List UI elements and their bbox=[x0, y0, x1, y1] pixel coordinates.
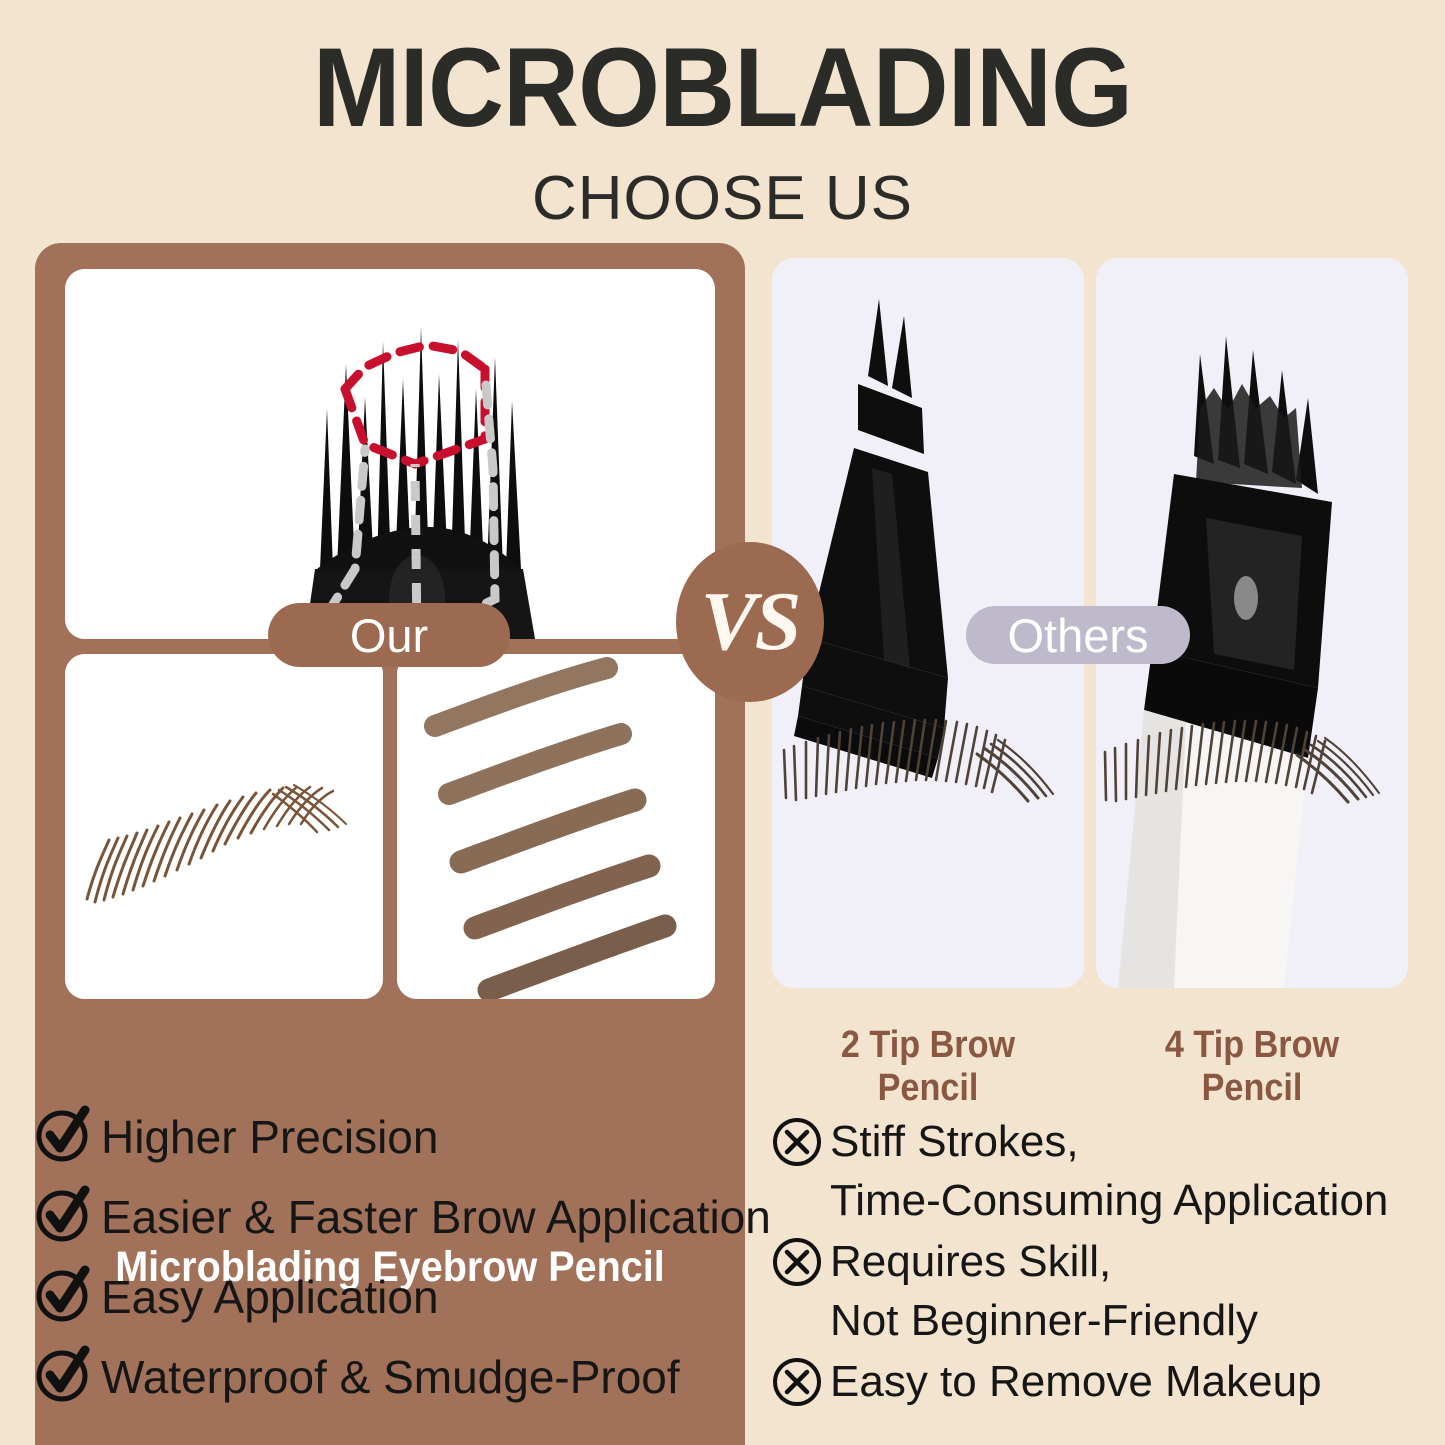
our-label-badge: Our bbox=[268, 603, 510, 667]
list-item: Waterproof & Smudge-Proof bbox=[35, 1347, 755, 1409]
check-circle-icon bbox=[35, 1265, 101, 1328]
others-product-1-name: 2 Tip Brow Pencil bbox=[788, 1024, 1069, 1110]
list-item: Stiff Strokes, Time-Consuming Applicatio… bbox=[772, 1113, 1432, 1229]
pen-tip-closeup-icon bbox=[65, 269, 715, 639]
list-item-label: Waterproof & Smudge-Proof bbox=[101, 1347, 680, 1407]
page-subtitle: CHOOSE US bbox=[0, 168, 1445, 230]
check-circle-icon bbox=[35, 1345, 101, 1408]
list-item-label-line1: Requires Skill, bbox=[830, 1233, 1111, 1290]
others-product-2-name: 4 Tip Brow Pencil bbox=[1112, 1024, 1393, 1110]
check-circle-icon bbox=[35, 1185, 101, 1248]
others-2-brow-strokes-icon bbox=[1096, 688, 1408, 988]
vs-text: VS bbox=[701, 580, 800, 664]
check-circle-icon bbox=[35, 1105, 101, 1168]
others-1-brow-strokes-icon bbox=[772, 688, 1084, 988]
list-item: Easy Application bbox=[35, 1267, 755, 1329]
x-circle-icon bbox=[772, 1237, 830, 1292]
list-item: Higher Precision bbox=[35, 1107, 755, 1169]
list-item: Easier & Faster Brow Application bbox=[35, 1187, 755, 1249]
our-brow-result-image bbox=[65, 654, 383, 999]
x-circle-icon bbox=[772, 1117, 830, 1172]
list-item-label-line2: Time-Consuming Application bbox=[830, 1172, 1388, 1229]
list-item-label: Higher Precision bbox=[101, 1107, 438, 1167]
others-drawback-list: Stiff Strokes, Time-Consuming Applicatio… bbox=[772, 1113, 1432, 1416]
brow-result-icon bbox=[65, 654, 383, 999]
our-pen-tip-image bbox=[65, 269, 715, 639]
our-color-swatches-image bbox=[397, 654, 715, 999]
list-item: Requires Skill, Not Beginner-Friendly bbox=[772, 1233, 1432, 1349]
page-title: MICROBLADING bbox=[43, 32, 1401, 144]
infographic-root: MICROBLADING CHOOSE US bbox=[0, 0, 1445, 1445]
list-item: Easy to Remove Makeup bbox=[772, 1353, 1432, 1412]
header: MICROBLADING CHOOSE US bbox=[0, 0, 1445, 230]
list-item-label-line2: Not Beginner-Friendly bbox=[830, 1292, 1258, 1349]
others-label-text: Others bbox=[1007, 612, 1148, 659]
color-swatches-icon bbox=[397, 654, 715, 999]
our-label-text: Our bbox=[350, 612, 428, 659]
list-item-label-line1: Stiff Strokes, bbox=[830, 1113, 1079, 1170]
our-feature-list: Higher Precision Easier & Faster Brow Ap… bbox=[35, 1107, 755, 1427]
x-circle-icon bbox=[772, 1357, 830, 1412]
others-label-badge: Others bbox=[966, 606, 1190, 664]
list-item-label: Easier & Faster Brow Application bbox=[101, 1187, 771, 1247]
vs-badge: VS bbox=[676, 542, 824, 702]
list-item-label: Easy Application bbox=[101, 1267, 439, 1327]
list-item-label-line1: Easy to Remove Makeup bbox=[830, 1353, 1322, 1410]
